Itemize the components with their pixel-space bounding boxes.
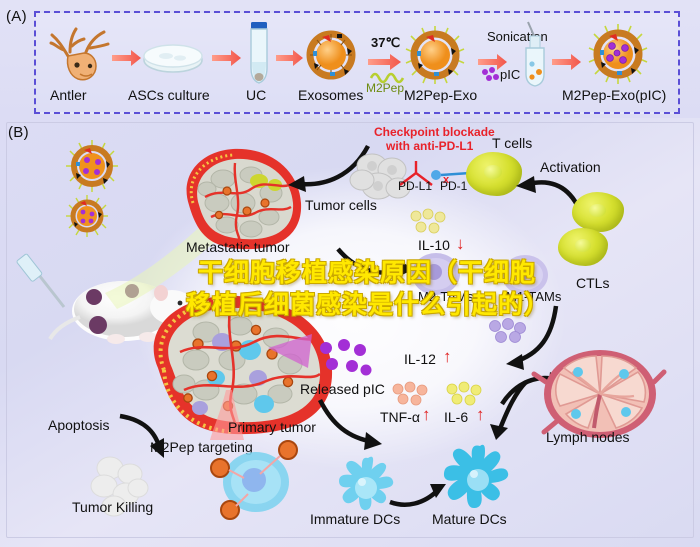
watermark-line1: 干细胞移植感染原因（干细胞 [198,258,536,288]
mature-dc-cell [438,442,520,516]
t-cell-nucleus [484,165,502,179]
label-tnf-alpha: TNF-α [380,410,420,425]
m2pep-targeting-macrophage [198,440,308,520]
arrow-asc-to-uc [212,50,242,66]
label-il-6: IL-6 [444,410,468,425]
exosome-particle [308,32,354,78]
arrow-exosome-to-m2pep [368,54,402,70]
label-tumor-cells: Tumor cells [305,198,377,213]
ctl-cell-1-nucleus [589,204,606,217]
il-10-particles [408,208,452,238]
centrifuge-tube-icon [246,22,272,86]
label-immature-dcs: Immature DCs [310,512,400,527]
panel-a-caption-uc: UC [246,88,266,103]
label-pd-l1: PD-L1 [398,180,432,193]
arrow-to-immature-dcs [318,398,398,458]
figure-root: (A) Antler ASCs culture [0,0,700,547]
arrow-to-final-product [552,54,582,70]
petri-dish-icon [142,42,204,76]
label-il-12: IL-12 [404,352,436,367]
panel-a-caption-exosomes: Exosomes [298,88,363,103]
label-metastatic-tumor: Metastatic tumor [186,240,289,255]
label-t-cells: T cells [492,136,532,151]
label-pd-1: PD-1 [440,180,467,193]
label-il-6-arrow: ↑ [476,406,485,424]
label-ctls: CTLs [576,276,609,291]
label-mature-dcs: Mature DCs [432,512,507,527]
m2pep-exo-pic-particle [588,24,648,84]
label-il-12-arrow: ↑ [443,348,452,366]
label-checkpoint-line1: Checkpoint blockade [374,126,495,139]
arrow-antler-to-asc [112,50,142,66]
arrow-uc-to-exosomes [276,50,304,66]
label-tnf-alpha-arrow: ↑ [422,406,431,424]
ctl-cell-2 [558,228,608,266]
label-checkpoint-line2: with anti-PD-L1 [386,140,473,153]
label-lymph-nodes: Lymph nodes [546,430,630,445]
watermark-line2: 移植后细菌感染是什么引起的） [186,290,550,320]
sonicator-tube-icon [520,22,550,88]
released-pic-particles [318,340,374,382]
m2pep-exosome-particle [406,26,464,84]
label-activation: Activation [540,160,601,175]
label-released-pic: Released pIC [300,382,385,397]
panel-a-caption-antler: Antler [50,88,87,103]
label-primary-tumor: Primary tumor [228,420,316,435]
panel-a-caption-m2pep-exo: M2Pep-Exo [404,88,477,103]
panel-a-caption-m2pep-exo-pic: M2Pep-Exo(pIC) [562,88,666,103]
ctl-cell-2-nucleus [575,239,591,251]
panel-b-label: (B) [8,124,29,141]
panel-a-label: (A) [6,8,27,25]
panel-a-annotation-m2pep: M2Pep [366,82,404,95]
panel-a: (A) Antler ASCs culture [0,0,700,118]
panel-a-annotation-pic: pIC [500,68,520,82]
panel-a-annotation-temperature: 37℃ [371,36,400,50]
label-tumor-killing: Tumor Killing [72,500,153,515]
panel-a-caption-asc: ASCs culture [128,88,210,103]
ctl-cell-1 [572,192,624,232]
label-apoptosis: Apoptosis [48,418,109,433]
